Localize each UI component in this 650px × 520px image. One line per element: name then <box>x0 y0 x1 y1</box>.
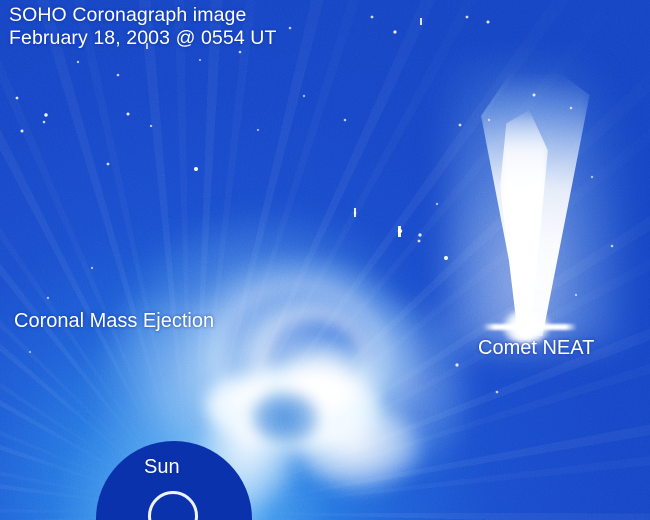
soho-coronagraph-image: SOHO Coronagraph image February 18, 2003… <box>0 0 650 520</box>
title-block: SOHO Coronagraph image February 18, 2003… <box>9 4 276 50</box>
label-comet-neat: Comet NEAT <box>478 337 594 360</box>
cme-lower-bright-arc <box>300 405 420 490</box>
comet-saturation-streak <box>483 324 577 330</box>
title-line-instrument: SOHO Coronagraph image <box>9 4 276 27</box>
cme-dark-cavity-notch <box>252 392 318 444</box>
label-sun: Sun <box>144 456 180 479</box>
label-coronal-mass-ejection: Coronal Mass Ejection <box>14 310 214 333</box>
title-line-datetime: February 18, 2003 @ 0554 UT <box>9 27 276 50</box>
